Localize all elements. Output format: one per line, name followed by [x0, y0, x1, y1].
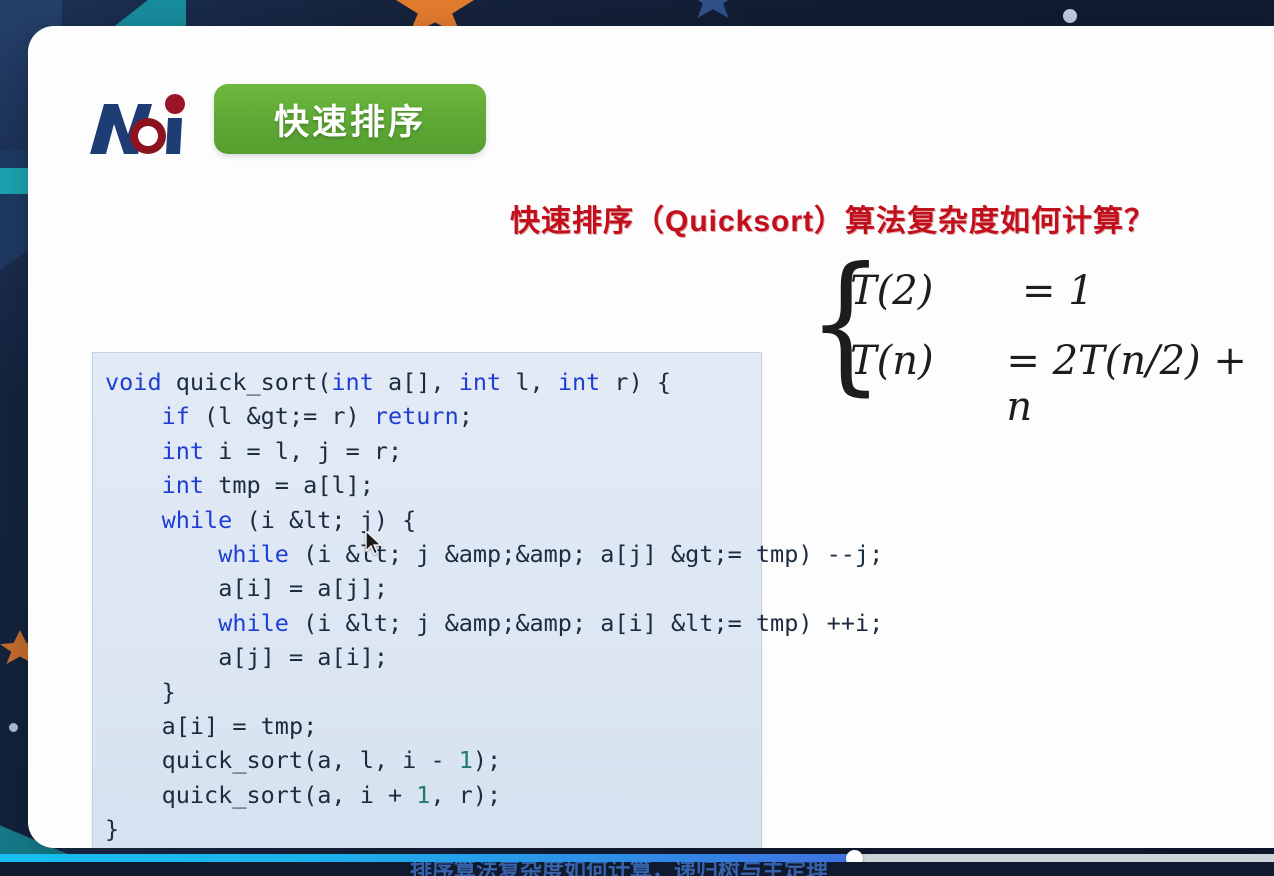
noi-logo-icon [84, 92, 200, 166]
formula-lhs: T(n) [850, 338, 1006, 384]
badge-body: 快速排序 [214, 84, 486, 154]
slide-title-badge: 快速排序 [214, 84, 486, 154]
recurrence-formula: { T(2) = 1 T(n) = 2T(n/2) + n [790, 262, 1260, 402]
code-block: void quick_sort(int a[], int l, int r) {… [92, 352, 762, 848]
dot-top-right-icon [1063, 9, 1077, 23]
below-caption-text: 排序算法复杂度如何计算，递归树与主定理 [410, 862, 828, 876]
formula-rhs: = 1 [1022, 268, 1094, 314]
below-video-strip: 排序算法复杂度如何计算，递归树与主定理 [0, 862, 1274, 876]
badge-title-text: 快速排序 [274, 94, 426, 145]
formula-row-base-case: T(2) = 1 [850, 268, 1094, 314]
formula-rhs: = 2T(n/2) + n [1006, 338, 1260, 430]
slide-card: 快速排序 快速排序（Quicksort）算法复杂度如何计算？ { T(2) = … [28, 26, 1274, 848]
slide-screenshot: 快速排序 快速排序（Quicksort）算法复杂度如何计算？ { T(2) = … [0, 0, 1274, 876]
code-source-text: void quick_sort(int a[], int l, int r) {… [105, 365, 761, 847]
dot-left-icon [9, 723, 18, 732]
formula-row-recursive-case: T(n) = 2T(n/2) + n [850, 338, 1260, 430]
page-title: 快速排序（Quicksort）算法复杂度如何计算？ [510, 196, 1155, 240]
formula-lhs: T(2) [850, 268, 1022, 314]
